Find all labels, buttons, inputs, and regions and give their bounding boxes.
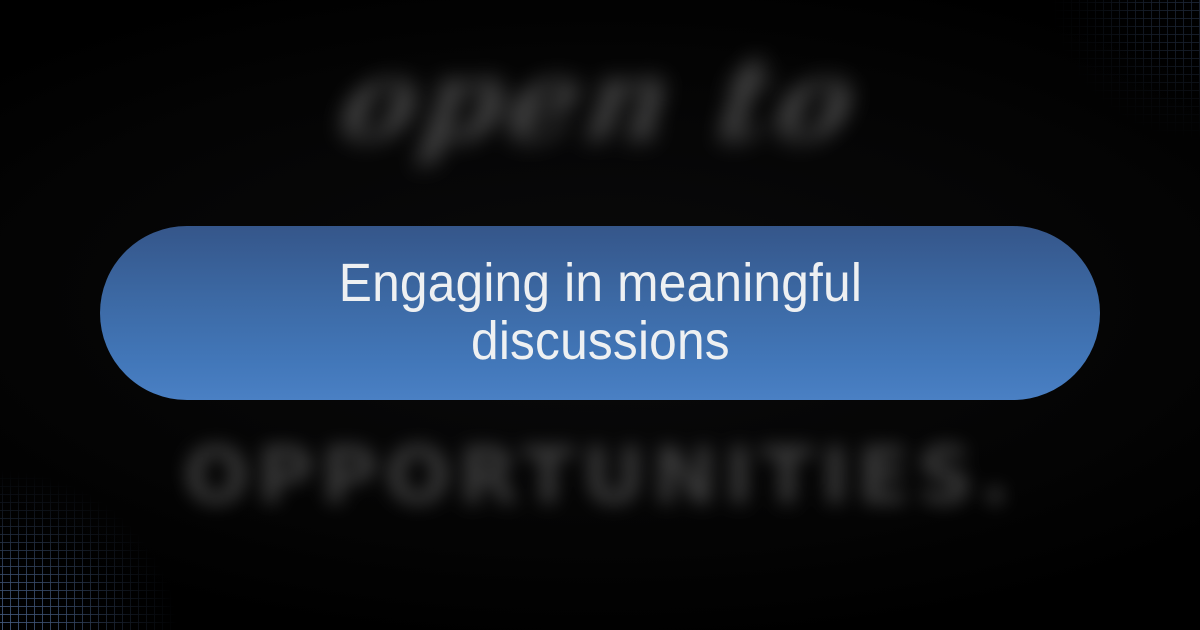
dot-grid-top-right-icon (1031, 0, 1200, 159)
poster-canvas: open to OPPORTUNITIES. Engaging in meani… (0, 0, 1200, 630)
headline-pill-label: Engaging in meaningful discussions (338, 255, 861, 371)
headline-pill-button[interactable]: Engaging in meaningful discussions (100, 226, 1100, 400)
dot-grid-bottom-left-icon (0, 446, 204, 630)
headline-line-1: Engaging in meaningful (338, 253, 861, 313)
headline-line-2: discussions (471, 311, 730, 371)
